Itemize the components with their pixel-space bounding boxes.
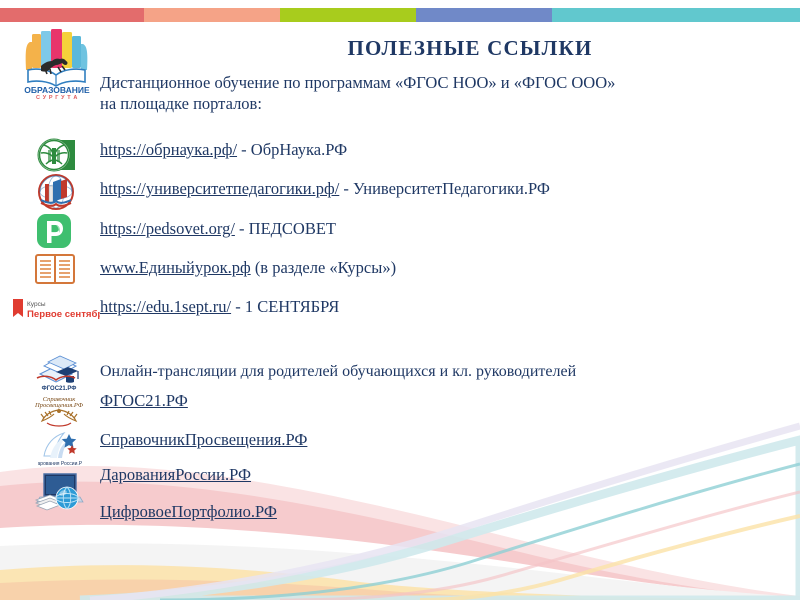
slide-canvas: ПОЛЕЗНЫЕ ССЫЛКИ ОБРАЗОВАНИЕ С У Р Г У Т … <box>0 0 800 600</box>
intro-line-2: на площадке порталов: <box>100 93 790 114</box>
link-fgos21[interactable]: ФГОС21.РФ <box>100 391 188 410</box>
top-color-stripe <box>0 8 800 22</box>
link-row-universitet-pedagogiki[interactable]: https://университетпедагогики.рф/ - Унив… <box>100 179 550 199</box>
link-suffix-obrnauka: - ОбрНаука.РФ <box>237 140 347 159</box>
sept-logo-line2: Первое сентября <box>27 309 100 320</box>
link-spravochnik[interactable]: СправочникПросвещения.РФ <box>100 430 307 449</box>
edinyurok-book-icon <box>34 252 76 286</box>
link-darovaniya[interactable]: ДарованияРоссии.РФ <box>100 465 251 484</box>
sept-logo-line1: Курсы <box>27 301 46 308</box>
link-obrnauka[interactable]: https://обрнаука.рф/ <box>100 140 237 159</box>
intro-line-1: Дистанционное обучение по программам «ФГ… <box>100 72 790 93</box>
stripe-segment-lime <box>280 8 416 22</box>
page-title: ПОЛЕЗНЫЕ ССЫЛКИ <box>240 36 700 61</box>
link-row-darovaniya[interactable]: ДарованияРоссии.РФ <box>100 465 251 485</box>
stripe-segment-periwinkle <box>416 8 552 22</box>
link-edu-1sept[interactable]: https://edu.1sept.ru/ <box>100 297 231 316</box>
link-suffix-edinyurok: (в разделе «Курсы») <box>251 258 396 277</box>
link-universitet-pedagogiki[interactable]: https://университетпедагогики.рф/ <box>100 179 339 198</box>
stripe-segment-salmon <box>144 8 280 22</box>
stripe-segment-red <box>0 8 144 22</box>
link-row-portfolio[interactable]: ЦифровоеПортфолио.РФ <box>100 502 277 522</box>
spravochnik-logo-icon: Справочник Просвещения.РФ <box>34 392 84 430</box>
darovaniya-caption: Дарования России.РФ <box>38 461 82 467</box>
link-suffix-universitet-pedagogiki: - УниверситетПедагогики.РФ <box>339 179 550 198</box>
pedsovet-logo-icon <box>34 212 74 250</box>
link-row-edinyurok[interactable]: www.Единыйурок.рф (в разделе «Курсы») <box>100 258 396 278</box>
link-row-fgos21[interactable]: ФГОС21.РФ <box>100 391 188 411</box>
darovaniya-logo-icon: Дарования России.РФ <box>38 428 82 470</box>
obrnauka-emblem-icon <box>34 136 78 176</box>
surgut-logo-line1: ОБРАЗОВАНИЕ <box>24 85 90 95</box>
pervoe-sentyabrya-logo-icon: Курсы Первое сентября <box>10 296 100 322</box>
obrazovanie-surguta-logo-icon: ОБРАЗОВАНИЕ С У Р Г У Т А <box>14 28 100 100</box>
link-row-1sept[interactable]: https://edu.1sept.ru/ - 1 СЕНТЯБРЯ <box>100 297 339 317</box>
link-row-pedsovet[interactable]: https://pedsovet.org/ - ПЕДСОВЕТ <box>100 219 336 239</box>
svg-text:Просвещения.РФ: Просвещения.РФ <box>34 402 84 409</box>
link-suffix-1sept: - 1 СЕНТЯБРЯ <box>231 297 339 316</box>
intro-paragraph: Дистанционное обучение по программам «ФГ… <box>100 72 790 114</box>
surgut-logo-line2: С У Р Г У Т А <box>36 95 78 100</box>
link-pedsovet[interactable]: https://pedsovet.org/ <box>100 219 235 238</box>
section2-heading: Онлайн-трансляции для родителей обучающи… <box>100 362 800 382</box>
link-edinyurok[interactable]: www.Единыйурок.рф <box>100 258 251 277</box>
fgos21-logo-icon: ФГОС21.РФ <box>36 352 82 392</box>
link-row-obrnauka[interactable]: https://обрнаука.рф/ - ОбрНаука.РФ <box>100 140 347 160</box>
link-portfolio[interactable]: ЦифровоеПортфолио.РФ <box>100 502 277 521</box>
portfolio-logo-icon <box>34 470 84 512</box>
universitet-pedagogiki-emblem-icon <box>34 172 78 212</box>
link-suffix-pedsovet: - ПЕДСОВЕТ <box>235 219 336 238</box>
link-row-spravochnik[interactable]: СправочникПросвещения.РФ <box>100 430 307 450</box>
stripe-segment-teal <box>552 8 800 22</box>
